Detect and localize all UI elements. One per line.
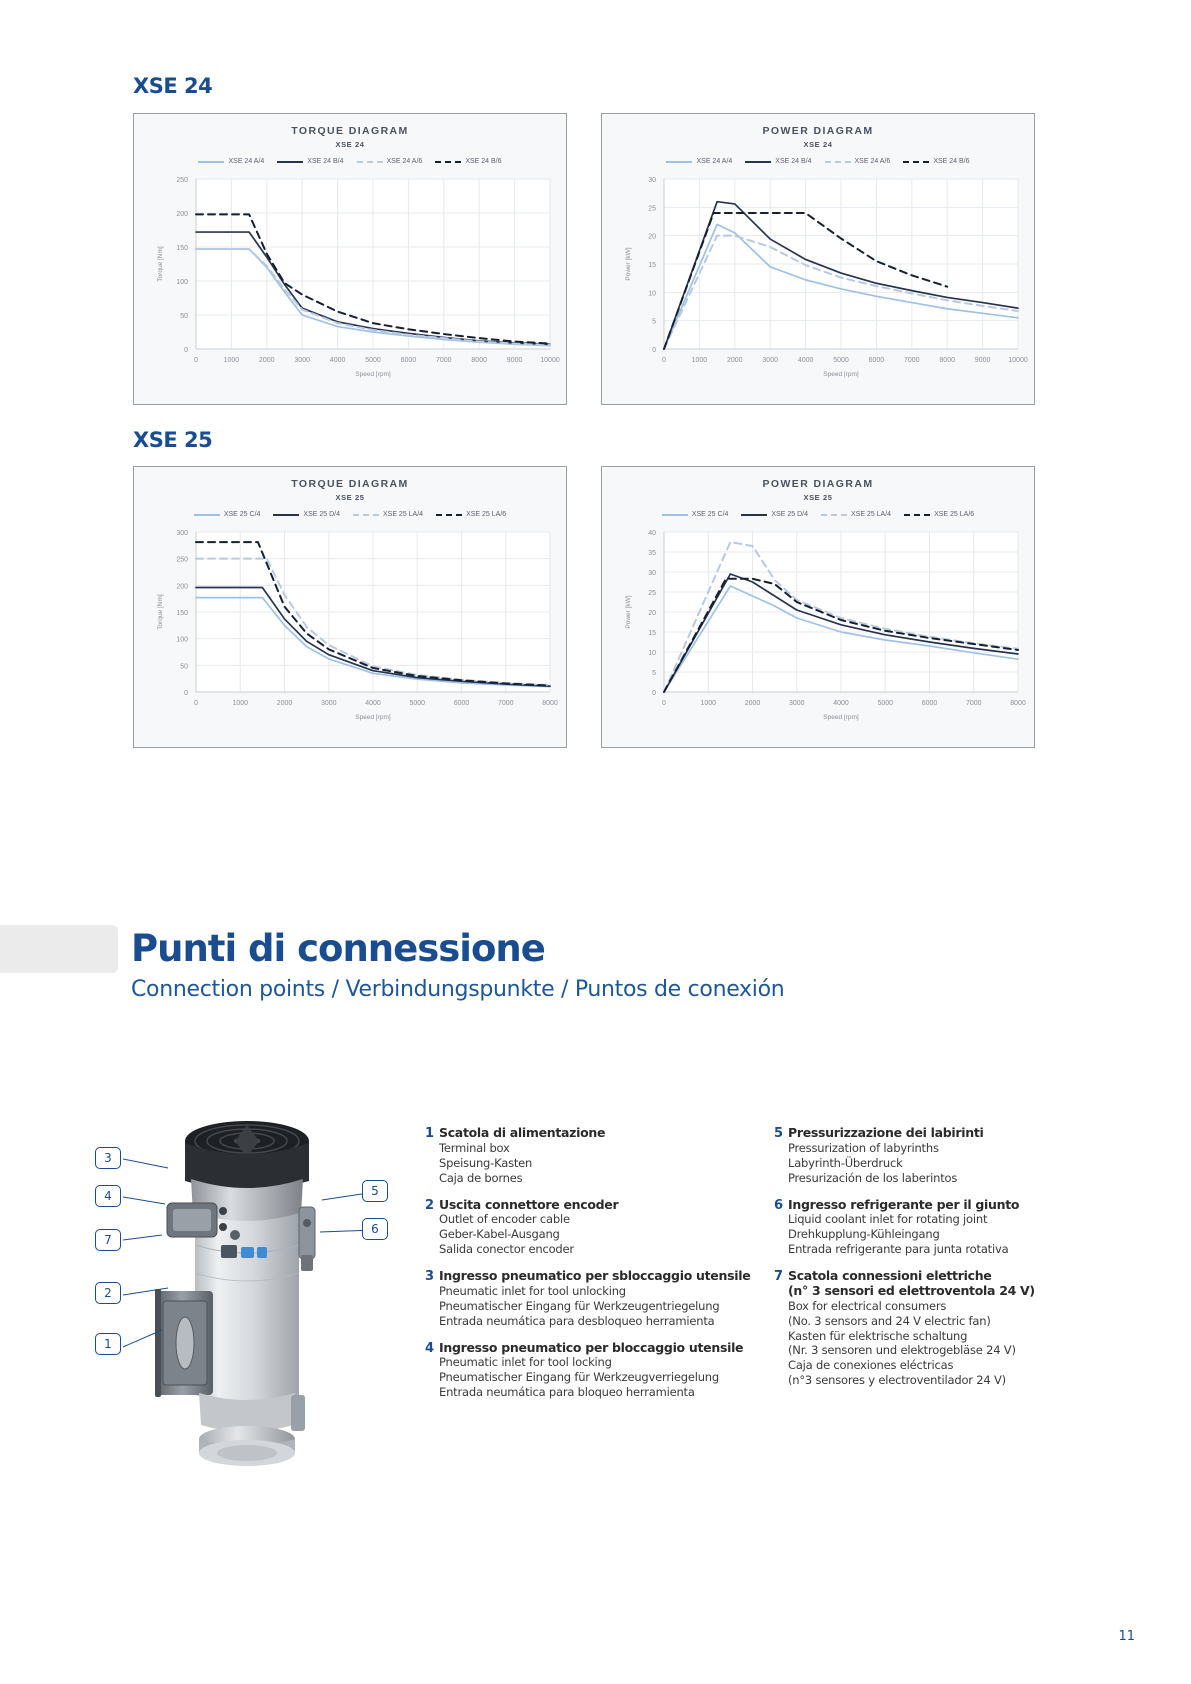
connection-point-translation: Pneumatic inlet for tool unlocking <box>439 1284 752 1299</box>
svg-text:1000: 1000 <box>224 357 240 364</box>
chart-title: TORQUE DIAGRAM <box>134 125 566 137</box>
svg-text:30: 30 <box>648 570 656 577</box>
legend-swatch <box>436 514 462 516</box>
legend-item: XSE 25 LA/4 <box>821 511 891 518</box>
svg-text:20: 20 <box>648 234 656 241</box>
chart-title: POWER DIAGRAM <box>602 478 1034 490</box>
svg-text:6000: 6000 <box>454 700 470 707</box>
legend-swatch <box>435 161 461 163</box>
connection-point-title: Ingresso pneumatico per bloccaggio utens… <box>439 1341 752 1356</box>
connection-point-title: (n° 3 sensori ed elettroventola 24 V) <box>788 1284 1091 1299</box>
svg-text:Torque [Nm]: Torque [Nm] <box>157 246 164 282</box>
callout-leader-lines <box>90 1120 420 1450</box>
legend-label: XSE 24 A/6 <box>387 158 423 165</box>
connection-point-translation: Box for electrical consumers <box>788 1299 1091 1314</box>
svg-text:25: 25 <box>648 590 656 597</box>
connection-point-number: 4 <box>422 1341 439 1401</box>
svg-text:250: 250 <box>176 557 188 564</box>
connection-point-body: Uscita connettore encoderOutlet of encod… <box>439 1198 752 1258</box>
legend-item: XSE 24 B/4 <box>745 158 811 165</box>
legend-swatch <box>904 514 930 516</box>
connection-point-translation: Terminal box <box>439 1141 752 1156</box>
svg-text:4000: 4000 <box>833 700 849 707</box>
svg-text:300: 300 <box>176 530 188 537</box>
legend-swatch <box>821 514 847 516</box>
connection-point-body: Ingresso pneumatico per bloccaggio utens… <box>439 1341 752 1401</box>
connection-point-translation: Pneumatischer Eingang für Werkzeugverrie… <box>439 1370 752 1385</box>
legend-label: XSE 25 LA/4 <box>383 511 423 518</box>
svg-text:8000: 8000 <box>542 700 558 707</box>
connection-point-body: Pressurizzazione dei labirintiPressuriza… <box>788 1126 1091 1186</box>
connection-point-translation: (No. 3 sensors and 24 V electric fan) <box>788 1314 1091 1329</box>
model-heading-xse25: XSE 25 <box>133 428 212 452</box>
legend-label: XSE 25 LA/6 <box>466 511 506 518</box>
connection-point-translation: Outlet of encoder cable <box>439 1212 752 1227</box>
svg-text:20: 20 <box>648 610 656 617</box>
connection-point-translation: Salida conector encoder <box>439 1242 752 1257</box>
legend-label: XSE 24 A/6 <box>855 158 891 165</box>
connection-point-number: 2 <box>422 1198 439 1258</box>
legend-item: XSE 24 B/6 <box>903 158 969 165</box>
chart-panel-power-xse24: POWER DIAGRAMXSE 24XSE 24 A/4XSE 24 B/4X… <box>601 113 1035 405</box>
chart-panel-torque-xse24: TORQUE DIAGRAMXSE 24XSE 24 A/4XSE 24 B/4… <box>133 113 567 405</box>
svg-text:1000: 1000 <box>692 357 708 364</box>
svg-text:9000: 9000 <box>975 357 991 364</box>
legend-item: XSE 25 LA/4 <box>353 511 423 518</box>
legend-label: XSE 24 A/4 <box>228 158 264 165</box>
connection-point-body: Ingresso refrigerante per il giuntoLiqui… <box>788 1198 1091 1258</box>
connection-point-translation: Entrada neumática para desbloqueo herram… <box>439 1314 752 1329</box>
svg-text:200: 200 <box>176 211 188 218</box>
svg-text:5000: 5000 <box>877 700 893 707</box>
connection-point-translation: Liquid coolant inlet for rotating joint <box>788 1212 1091 1227</box>
connection-point-translation: Speisung-Kasten <box>439 1156 752 1171</box>
connection-point-number: 1 <box>422 1126 439 1186</box>
svg-text:5000: 5000 <box>365 357 381 364</box>
datasheet-page: XSE 24 TORQUE DIAGRAMXSE 24XSE 24 A/4XSE… <box>0 0 1191 1684</box>
connection-point-number: 3 <box>422 1269 439 1329</box>
connection-point-title: Ingresso pneumatico per sbloccaggio uten… <box>439 1269 752 1284</box>
svg-text:Speed [rpm]: Speed [rpm] <box>355 714 391 721</box>
page-number: 11 <box>1118 1629 1135 1644</box>
svg-text:150: 150 <box>176 610 188 617</box>
connection-point-body: Scatola di alimentazioneTerminal boxSpei… <box>439 1126 752 1186</box>
connection-point-translation: Geber-Kabel-Ausgang <box>439 1227 752 1242</box>
legend-item: XSE 25 LA/6 <box>904 511 974 518</box>
legend-swatch <box>194 514 220 516</box>
chart-subtitle: XSE 24 <box>602 140 1034 149</box>
svg-text:1000: 1000 <box>232 700 248 707</box>
svg-text:2000: 2000 <box>727 357 743 364</box>
callout-7[interactable]: 7 <box>95 1229 121 1251</box>
connection-point-translation: Caja de conexiones eléctricas <box>788 1358 1091 1373</box>
svg-text:10: 10 <box>648 290 656 297</box>
connection-point-translation: Entrada neumática para bloqueo herramien… <box>439 1385 752 1400</box>
page-subtitle: Connection points / Verbindungspunkte / … <box>131 977 784 1002</box>
connection-point-body: Ingresso pneumatico per sbloccaggio uten… <box>439 1269 752 1329</box>
legend-label: XSE 25 D/4 <box>771 511 808 518</box>
legend-item: XSE 25 D/4 <box>273 511 340 518</box>
connection-point-translation: (n°3 sensores y electroventilador 24 V) <box>788 1373 1091 1388</box>
legend-label: XSE 25 C/4 <box>692 511 729 518</box>
legend-swatch <box>825 161 851 163</box>
svg-text:9000: 9000 <box>507 357 523 364</box>
svg-text:0: 0 <box>652 690 656 697</box>
svg-text:35: 35 <box>648 550 656 557</box>
svg-text:50: 50 <box>180 313 188 320</box>
legend-item: XSE 24 A/4 <box>198 158 264 165</box>
svg-text:Power [kW]: Power [kW] <box>625 595 632 628</box>
legend-swatch <box>666 161 692 163</box>
legend-label: XSE 24 B/6 <box>465 158 501 165</box>
legend-label: XSE 24 A/4 <box>696 158 732 165</box>
callout-4[interactable]: 4 <box>95 1185 121 1207</box>
svg-text:40: 40 <box>648 530 656 537</box>
legend-item: XSE 24 A/6 <box>357 158 423 165</box>
svg-text:5: 5 <box>652 319 656 326</box>
chart-legend: XSE 25 C/4XSE 25 D/4XSE 25 LA/4XSE 25 LA… <box>134 511 566 518</box>
chart-legend: XSE 24 A/4XSE 24 B/4XSE 24 A/6XSE 24 B/6 <box>602 158 1034 165</box>
svg-text:7000: 7000 <box>966 700 982 707</box>
legend-item: XSE 25 LA/6 <box>436 511 506 518</box>
svg-text:3000: 3000 <box>294 357 310 364</box>
chart-plot-area: 0501001502002503000100020003000400050006… <box>134 522 566 726</box>
connection-point-translation: Pneumatic inlet for tool locking <box>439 1355 752 1370</box>
legend-label: XSE 25 LA/4 <box>851 511 891 518</box>
svg-text:8000: 8000 <box>939 357 955 364</box>
svg-text:2000: 2000 <box>277 700 293 707</box>
legend-label: XSE 24 B/4 <box>775 158 811 165</box>
legend-swatch <box>745 161 771 163</box>
connection-point-title: Ingresso refrigerante per il giunto <box>788 1198 1091 1213</box>
svg-text:3000: 3000 <box>321 700 337 707</box>
connection-points-left-column: 1Scatola di alimentazioneTerminal boxSpe… <box>422 1126 752 1412</box>
legend-swatch <box>277 161 303 163</box>
svg-text:7000: 7000 <box>904 357 920 364</box>
svg-text:10000: 10000 <box>1008 357 1028 364</box>
chart-subtitle: XSE 24 <box>134 140 566 149</box>
legend-swatch <box>353 514 379 516</box>
connection-point-title: Uscita connettore encoder <box>439 1198 752 1213</box>
svg-text:8000: 8000 <box>471 357 487 364</box>
legend-item: XSE 24 A/4 <box>666 158 732 165</box>
chart-title: POWER DIAGRAM <box>602 125 1034 137</box>
svg-text:6000: 6000 <box>922 700 938 707</box>
svg-text:200: 200 <box>176 583 188 590</box>
connection-point-translation: Presurización de los laberintos <box>788 1171 1091 1186</box>
chart-plot-area: 0510152025300100020003000400050006000700… <box>602 169 1034 383</box>
svg-text:5000: 5000 <box>409 700 425 707</box>
svg-text:0: 0 <box>652 347 656 354</box>
svg-text:0: 0 <box>194 700 198 707</box>
connection-point-body: Scatola connessioni elettriche(n° 3 sens… <box>788 1269 1091 1388</box>
legend-label: XSE 24 B/6 <box>933 158 969 165</box>
chart-panel-power-xse25: POWER DIAGRAMXSE 25XSE 25 C/4XSE 25 D/4X… <box>601 466 1035 748</box>
page-title: Punti di connessione <box>131 927 545 970</box>
section-accent-tab <box>0 925 118 973</box>
connection-point-item: 3Ingresso pneumatico per sbloccaggio ute… <box>422 1269 752 1329</box>
connection-point-number: 6 <box>771 1198 788 1258</box>
legend-swatch <box>662 514 688 516</box>
connection-point-translation: Pneumatischer Eingang für Werkzeugentrie… <box>439 1299 752 1314</box>
connection-point-translation: Labyrinth-Überdruck <box>788 1156 1091 1171</box>
callout-3[interactable]: 3 <box>95 1147 121 1169</box>
chart-subtitle: XSE 25 <box>602 493 1034 502</box>
svg-text:250: 250 <box>176 177 188 184</box>
model-heading-xse24: XSE 24 <box>133 74 212 98</box>
legend-label: XSE 25 C/4 <box>224 511 261 518</box>
connection-point-translation: Pressurization of labyrinths <box>788 1141 1091 1156</box>
legend-label: XSE 25 LA/6 <box>934 511 974 518</box>
svg-text:6000: 6000 <box>869 357 885 364</box>
svg-text:4000: 4000 <box>330 357 346 364</box>
svg-text:Power [kW]: Power [kW] <box>625 247 632 280</box>
svg-text:0: 0 <box>662 357 666 364</box>
svg-text:30: 30 <box>648 177 656 184</box>
svg-text:10: 10 <box>648 650 656 657</box>
legend-item: XSE 24 A/6 <box>825 158 891 165</box>
svg-text:0: 0 <box>184 347 188 354</box>
chart-subtitle: XSE 25 <box>134 493 566 502</box>
svg-text:0: 0 <box>184 690 188 697</box>
svg-text:1000: 1000 <box>700 700 716 707</box>
svg-text:5000: 5000 <box>833 357 849 364</box>
svg-text:Speed [rpm]: Speed [rpm] <box>823 714 859 721</box>
legend-swatch <box>273 514 299 516</box>
svg-text:Torque [Nm]: Torque [Nm] <box>157 594 164 630</box>
svg-text:100: 100 <box>176 279 188 286</box>
callout-5[interactable]: 5 <box>362 1180 388 1202</box>
svg-text:10000: 10000 <box>540 357 560 364</box>
svg-text:5: 5 <box>652 670 656 677</box>
legend-item: XSE 25 C/4 <box>194 511 261 518</box>
connection-point-title: Pressurizzazione dei labirinti <box>788 1126 1091 1141</box>
svg-text:6000: 6000 <box>401 357 417 364</box>
legend-label: XSE 24 B/4 <box>307 158 343 165</box>
connection-point-title: Scatola di alimentazione <box>439 1126 752 1141</box>
connection-point-title: Scatola connessioni elettriche <box>788 1269 1091 1284</box>
legend-item: XSE 25 C/4 <box>662 511 729 518</box>
connection-point-translation: Caja de bornes <box>439 1171 752 1186</box>
chart-plot-area: 0501001502002500100020003000400050006000… <box>134 169 566 383</box>
svg-text:2000: 2000 <box>745 700 761 707</box>
legend-swatch <box>357 161 383 163</box>
connection-point-translation: Kasten für elektrische schaltung <box>788 1329 1091 1344</box>
legend-swatch <box>741 514 767 516</box>
svg-text:7000: 7000 <box>498 700 514 707</box>
legend-label: XSE 25 D/4 <box>303 511 340 518</box>
chart-legend: XSE 24 A/4XSE 24 B/4XSE 24 A/6XSE 24 B/6 <box>134 158 566 165</box>
connection-point-translation: (Nr. 3 sensoren und elektrogebläse 24 V) <box>788 1343 1091 1358</box>
svg-text:0: 0 <box>662 700 666 707</box>
svg-text:0: 0 <box>194 357 198 364</box>
chart-plot-area: 0510152025303540010002000300040005000600… <box>602 522 1034 726</box>
connection-point-item: 7Scatola connessioni elettriche(n° 3 sen… <box>771 1269 1091 1388</box>
svg-text:8000: 8000 <box>1010 700 1026 707</box>
connection-points-right-column: 5Pressurizzazione dei labirintiPressuriz… <box>771 1126 1091 1400</box>
connection-point-number: 5 <box>771 1126 788 1186</box>
connection-point-number: 7 <box>771 1269 788 1388</box>
chart-title: TORQUE DIAGRAM <box>134 478 566 490</box>
svg-text:3000: 3000 <box>762 357 778 364</box>
legend-item: XSE 24 B/4 <box>277 158 343 165</box>
callout-1[interactable]: 1 <box>95 1333 121 1355</box>
svg-text:15: 15 <box>648 630 656 637</box>
legend-swatch <box>903 161 929 163</box>
svg-text:3000: 3000 <box>789 700 805 707</box>
connection-point-translation: Entrada refrigerante para junta rotativa <box>788 1242 1091 1257</box>
connection-point-translation: Drehkupplung-Kühleingang <box>788 1227 1091 1242</box>
connection-point-item: 1Scatola di alimentazioneTerminal boxSpe… <box>422 1126 752 1186</box>
connection-point-item: 6Ingresso refrigerante per il giuntoLiqu… <box>771 1198 1091 1258</box>
connection-point-item: 5Pressurizzazione dei labirintiPressuriz… <box>771 1126 1091 1186</box>
connection-point-item: 2Uscita connettore encoderOutlet of enco… <box>422 1198 752 1258</box>
svg-text:50: 50 <box>180 663 188 670</box>
legend-swatch <box>198 161 224 163</box>
callout-2[interactable]: 2 <box>95 1282 121 1304</box>
svg-text:2000: 2000 <box>259 357 275 364</box>
svg-text:Speed [rpm]: Speed [rpm] <box>355 371 391 378</box>
svg-text:4000: 4000 <box>365 700 381 707</box>
connection-point-item: 4Ingresso pneumatico per bloccaggio uten… <box>422 1341 752 1401</box>
chart-legend: XSE 25 C/4XSE 25 D/4XSE 25 LA/4XSE 25 LA… <box>602 511 1034 518</box>
legend-item: XSE 25 D/4 <box>741 511 808 518</box>
svg-text:100: 100 <box>176 637 188 644</box>
svg-text:150: 150 <box>176 245 188 252</box>
chart-panel-torque-xse25: TORQUE DIAGRAMXSE 25XSE 25 C/4XSE 25 D/4… <box>133 466 567 748</box>
svg-text:7000: 7000 <box>436 357 452 364</box>
legend-item: XSE 24 B/6 <box>435 158 501 165</box>
svg-text:Speed [rpm]: Speed [rpm] <box>823 371 859 378</box>
svg-text:25: 25 <box>648 205 656 212</box>
svg-text:4000: 4000 <box>798 357 814 364</box>
svg-text:15: 15 <box>648 262 656 269</box>
callout-6[interactable]: 6 <box>362 1218 388 1240</box>
